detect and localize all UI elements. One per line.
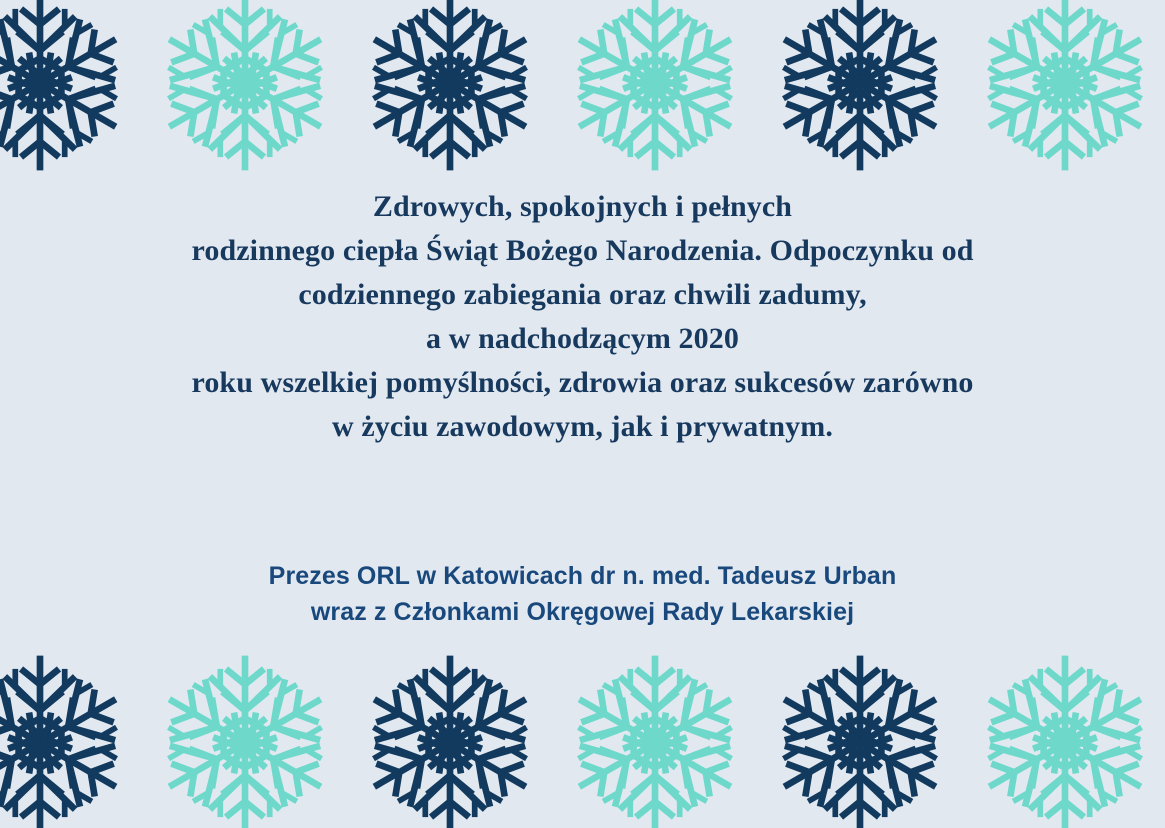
message-line: codziennego zabiegania oraz chwili zadum… <box>0 273 1165 317</box>
snowflake-icon <box>355 0 545 178</box>
signature-line: wraz z Członkami Okręgowej Rady Lekarski… <box>0 594 1165 630</box>
snowflake-icon <box>150 648 340 828</box>
greeting-message: Zdrowych, spokojnych i pełnych rodzinneg… <box>0 185 1165 449</box>
message-line: a w nadchodzącym 2020 <box>0 317 1165 361</box>
snowflake-icon <box>355 648 545 828</box>
message-line: w życiu zawodowym, jak i prywatnym. <box>0 405 1165 449</box>
snowflake-icon <box>765 0 955 178</box>
signature-line: Prezes ORL w Katowicach dr n. med. Tadeu… <box>0 558 1165 594</box>
greeting-card: Zdrowych, spokojnych i pełnych rodzinneg… <box>0 0 1165 828</box>
message-line: roku wszelkiej pomyślności, zdrowia oraz… <box>0 361 1165 405</box>
message-line: Zdrowych, spokojnych i pełnych <box>0 185 1165 229</box>
snowflake-icon <box>765 648 955 828</box>
snowflake-icon <box>560 648 750 828</box>
snowflake-icon <box>560 0 750 178</box>
snowflake-icon <box>0 648 135 828</box>
snowflake-band-bottom <box>0 648 1165 828</box>
snowflake-icon <box>970 0 1160 178</box>
snowflake-band-top <box>0 0 1165 178</box>
snowflake-icon <box>150 0 340 178</box>
message-line: rodzinnego ciepła Świąt Bożego Narodzeni… <box>0 229 1165 273</box>
signature-block: Prezes ORL w Katowicach dr n. med. Tadeu… <box>0 558 1165 630</box>
snowflake-icon <box>970 648 1160 828</box>
snowflake-icon <box>0 0 135 178</box>
